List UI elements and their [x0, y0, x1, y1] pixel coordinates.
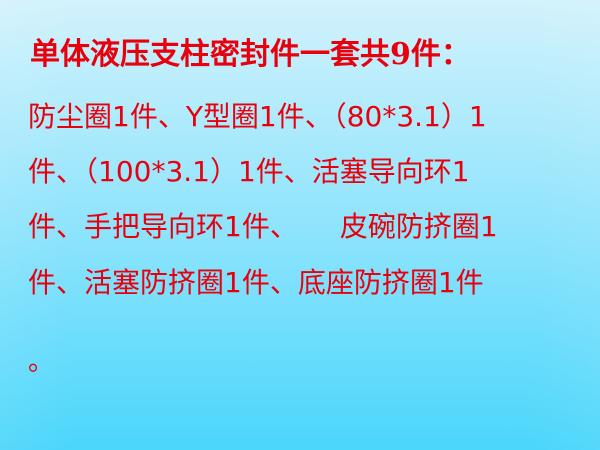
slide-title: 单体液压支柱密封件一套共9件：: [30, 36, 471, 74]
slide-body-line-1: 防尘圈1件、Y型圈1件、（80*3.1）1: [28, 100, 487, 134]
slide-body-line-5: 。: [28, 345, 54, 379]
slide-body-line-3: 件、手把导向环1件、 皮碗防挤圈1: [28, 210, 498, 244]
slide-body-line-4: 件、活塞防挤圈1件、底座防挤圈1件: [28, 266, 484, 300]
slide-body-line-2: 件、（100*3.1）1件、活塞导向环1: [28, 155, 470, 189]
slide-canvas: 单体液压支柱密封件一套共9件： 防尘圈1件、Y型圈1件、（80*3.1）1 件、…: [0, 0, 600, 450]
